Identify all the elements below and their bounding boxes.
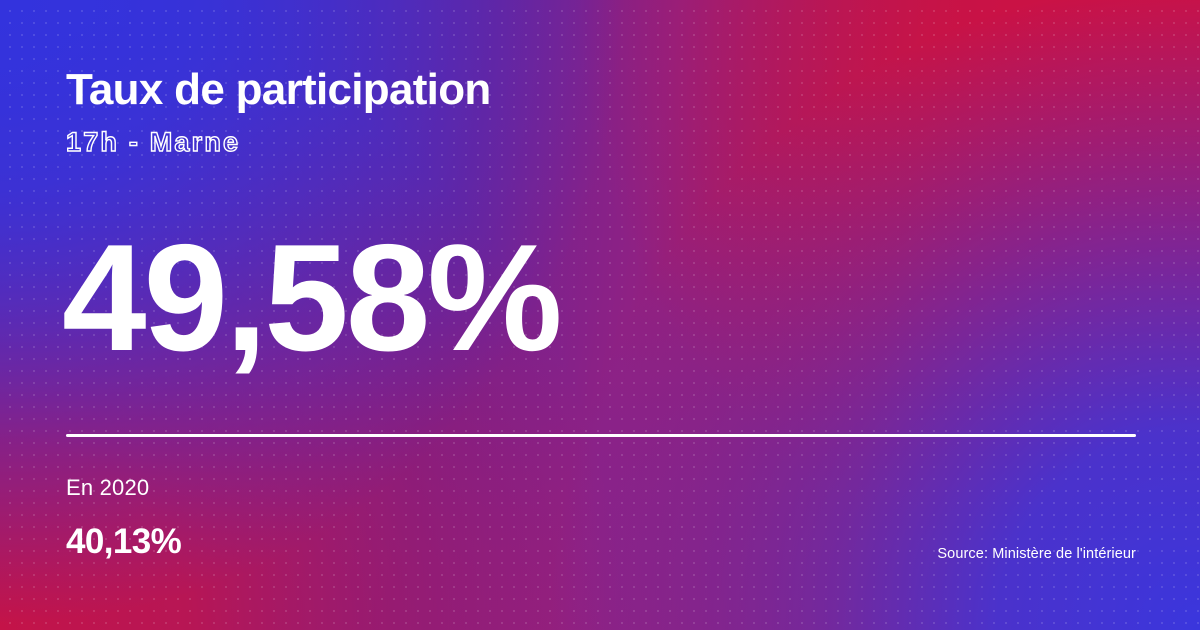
section-divider [66, 434, 1136, 437]
source-attribution: Source: Ministère de l'intérieur [937, 546, 1136, 563]
comparison-year-label: En 2020 [66, 475, 149, 501]
card-content: Taux de participation 17h - Marne 49,58%… [0, 0, 1200, 630]
comparison-rate-value: 40,13% [66, 521, 181, 563]
page-title: Taux de participation [66, 66, 491, 114]
participation-rate-card: Taux de participation 17h - Marne 49,58%… [0, 0, 1200, 630]
participation-rate-value: 49,58% [62, 222, 560, 374]
page-subtitle: 17h - Marne [66, 128, 240, 158]
